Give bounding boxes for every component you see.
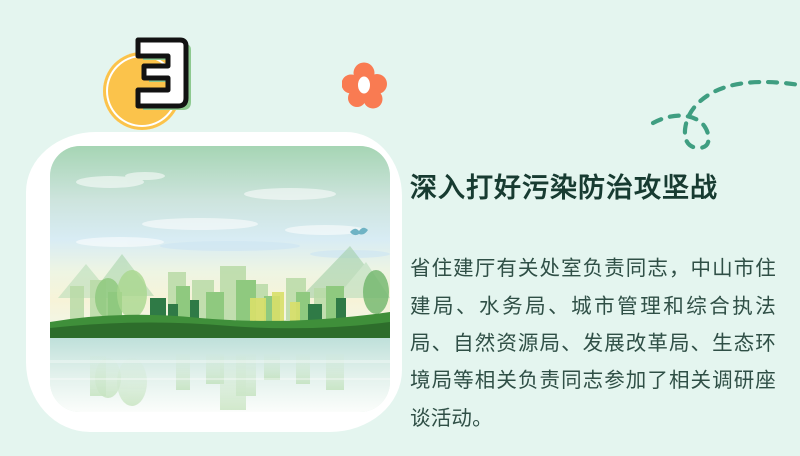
reversed-e-logo-icon	[128, 36, 192, 110]
dashed-flight-path-icon	[648, 58, 800, 154]
page-title: 深入打好污染防治攻坚战	[410, 172, 776, 204]
eco-city-skyline-illustration	[50, 146, 390, 412]
eco-city-artwork	[50, 146, 390, 412]
illustration-panel	[26, 132, 402, 432]
body-paragraph: 省住建厅有关处室负责同志，中山市住建局、水务局、城市管理和综合执法局、自然资源局…	[410, 250, 776, 436]
logo-cluster	[100, 48, 210, 140]
slide-canvas: 深入打好污染防治攻坚战 省住建厅有关处室负责同志，中山市住建局、水务局、城市管理…	[0, 0, 800, 456]
orange-flower-icon	[342, 62, 388, 110]
text-column: 深入打好污染防治攻坚战 省住建厅有关处室负责同志，中山市住建局、水务局、城市管理…	[410, 172, 776, 437]
